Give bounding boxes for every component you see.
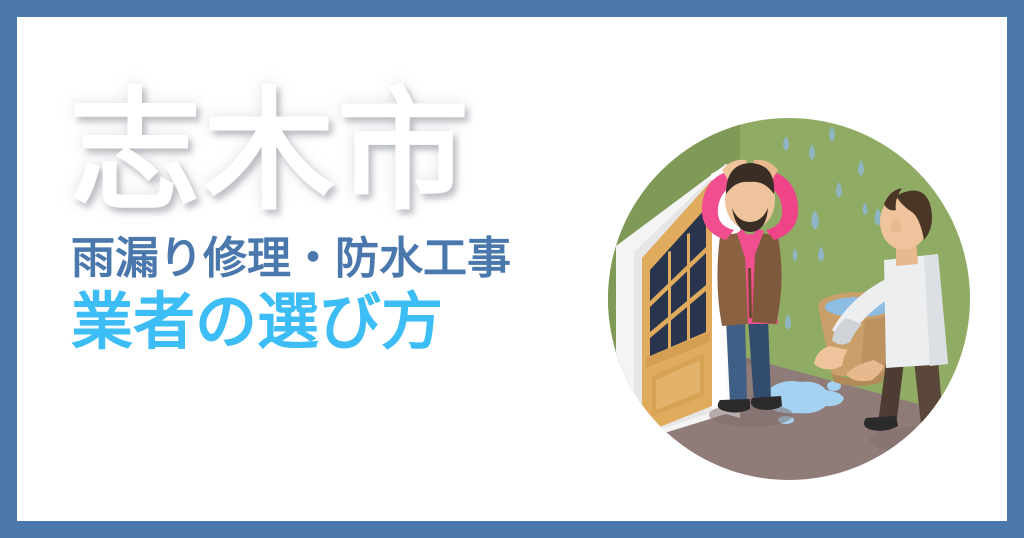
subtitle: 雨漏り修理・防水工事: [55, 231, 615, 287]
banner-inner-panel: 志木市 雨漏り修理・防水工事 業者の選び方: [17, 17, 1007, 521]
figure-shadow: [870, 427, 954, 453]
headline-block: 志木市 雨漏り修理・防水工事 業者の選び方: [55, 77, 615, 361]
door-mullion-vertical-2: [687, 233, 690, 344]
man1-shoe-right: [751, 396, 782, 410]
door-mullion-vertical-1: [668, 251, 671, 351]
banner: 志木市 雨漏り修理・防水工事 業者の選び方: [0, 0, 1024, 538]
man2-shoe-front: [912, 428, 948, 443]
illustration-scene: [608, 118, 970, 480]
man2-ear: [891, 219, 901, 233]
roof-leak-illustration: [608, 118, 970, 480]
page-title: 志木市: [55, 77, 615, 227]
tagline: 業者の選び方: [55, 285, 615, 361]
